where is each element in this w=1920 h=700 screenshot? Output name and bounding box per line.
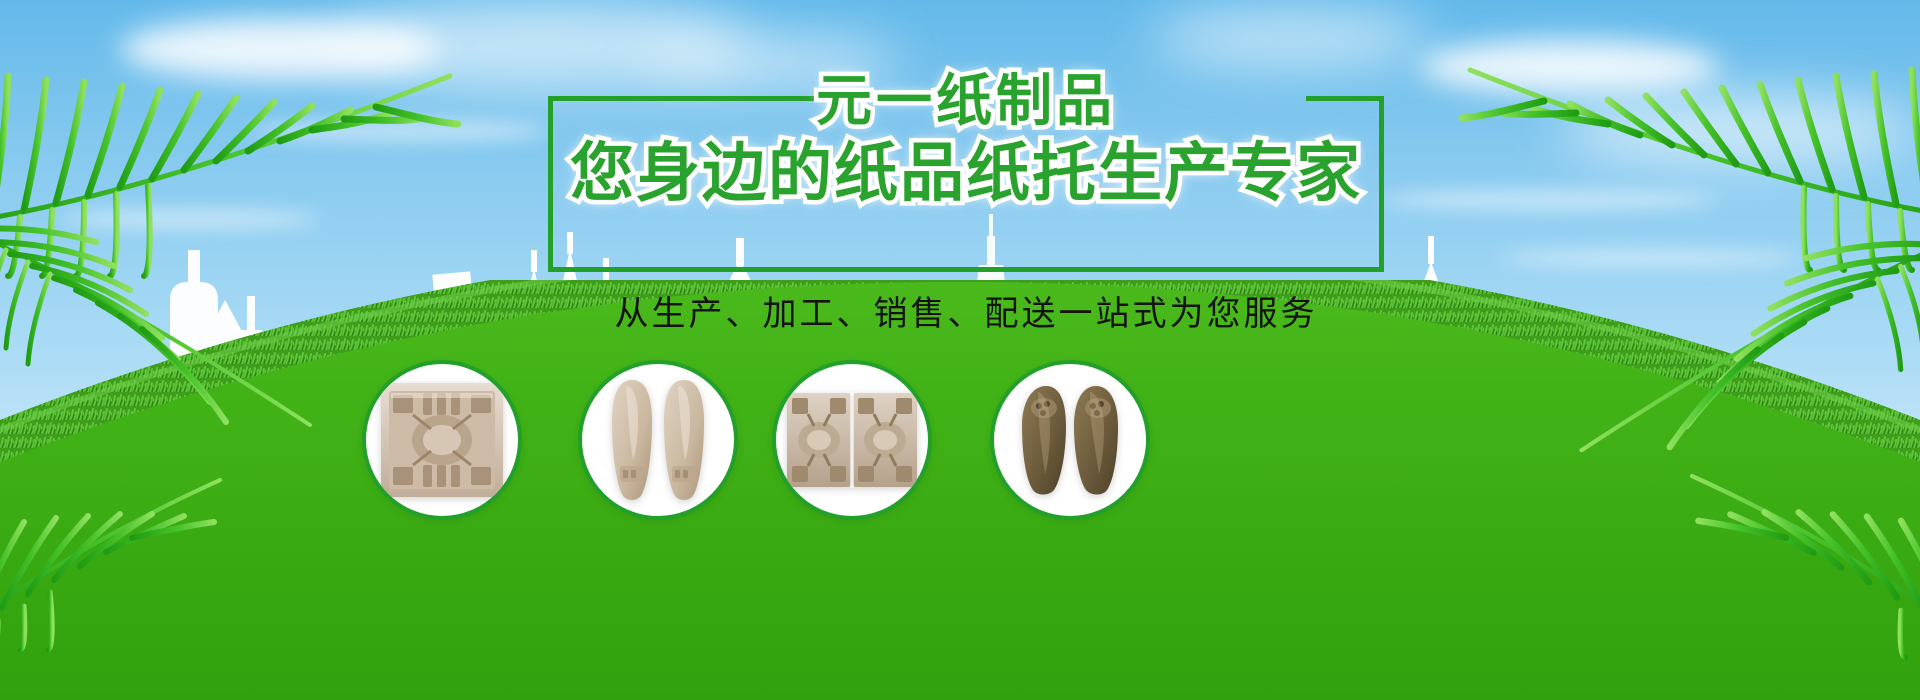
palm-frond-bottom-right (1660, 420, 1920, 660)
product-circle-1[interactable] (362, 360, 522, 520)
molded-pulp-twin-tray-icon (786, 392, 918, 488)
product-circle-2[interactable] (578, 360, 738, 520)
molded-pulp-shoe-tree-pair-icon (602, 374, 714, 506)
palm-frond-mid-left (0, 190, 340, 450)
frame-top-right-rule (1306, 96, 1384, 101)
banner-subtitle: 从生产、加工、销售、配送一站式为您服务 (548, 286, 1384, 335)
product-circle-4[interactable] (990, 360, 1150, 520)
molded-pulp-square-tray-icon (379, 381, 505, 499)
palm-frond-bottom-left (0, 430, 250, 650)
promo-banner: 元一纸制品 您身边的纸品纸托生产专家 从生产、加工、销售、配送一站式为您服务 (0, 0, 1920, 700)
product-circle-3[interactable] (772, 360, 932, 520)
molded-pulp-shoe-insert-icon (1012, 382, 1128, 498)
frame-top-left-rule (548, 96, 848, 101)
headline-frame: 元一纸制品 您身边的纸品纸托生产专家 (548, 96, 1384, 272)
headline-line-2: 您身边的纸品纸托生产专家 (570, 122, 1362, 214)
